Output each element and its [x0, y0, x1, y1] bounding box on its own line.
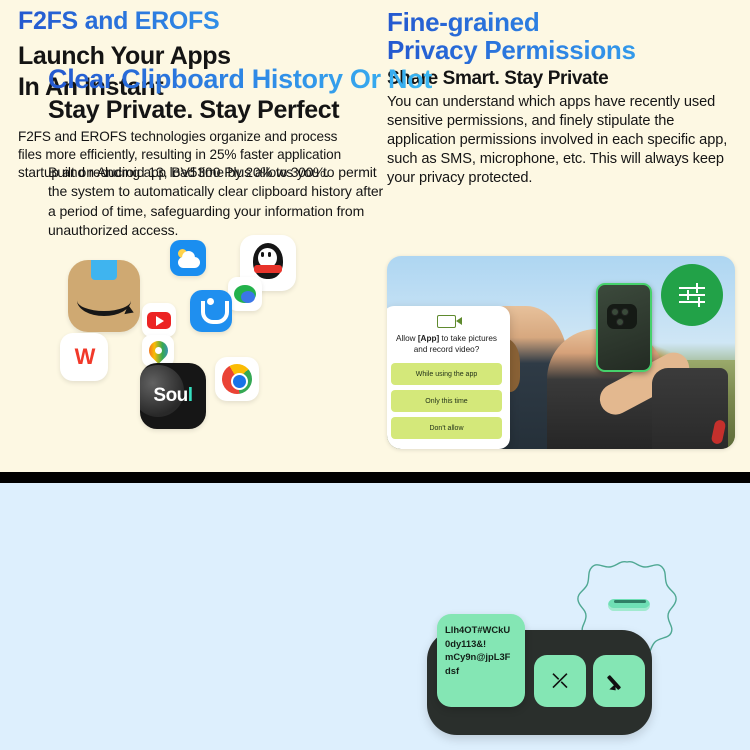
cloud-shape: [178, 257, 200, 268]
privacy-photo-card: Allow [App] to take pictures and record …: [387, 256, 735, 449]
wechat-blue-bubble: [241, 291, 255, 303]
wechat-app-icon[interactable]: [228, 277, 262, 311]
youtube-play-triangle: [156, 316, 164, 326]
camera-lens-3: [616, 318, 624, 326]
camera-glyph: [437, 315, 456, 328]
penguin-eye-right: [268, 252, 271, 257]
map-pin-center-dot: [155, 347, 162, 354]
permission-question-app: [App]: [418, 334, 439, 343]
rugged-phone: [596, 283, 652, 372]
amazon-app-icon[interactable]: [68, 260, 140, 332]
slider-knob-2: [687, 290, 689, 300]
right-headline: Share Smart. Stay Private: [387, 64, 736, 91]
clipboard-note[interactable]: Llh4OT#WCkU 0dy113&! mCy9n@jpL3F dsf: [437, 614, 525, 707]
camera-icon: [391, 315, 502, 328]
soul-app-icon[interactable]: Soul: [140, 363, 206, 429]
camera-lens-2: [621, 308, 629, 316]
permission-button-only-this-time[interactable]: Only this time: [391, 390, 502, 412]
app-icon-cloud: W Soul: [0, 235, 375, 450]
soul-wordmark: Soul: [153, 385, 192, 407]
shuffle-button[interactable]: ⤫: [534, 655, 586, 707]
sliders-glyph: [679, 284, 705, 306]
camera-lens-1: [611, 308, 619, 316]
wps-logo-letter: W: [75, 344, 94, 370]
clipboard-tray: Llh4OT#WCkU 0dy113&! mCy9n@jpL3F dsf ⤫: [427, 630, 652, 735]
pencil-icon: [609, 671, 629, 691]
bottom-body-copy: Built on Android 13, BV5300 Plus allows …: [48, 163, 388, 240]
amazon-smile-shape: [77, 285, 131, 316]
permission-button-while-using[interactable]: While using the app: [391, 363, 502, 385]
amazon-tab-shape: [91, 260, 117, 280]
permission-dialog: Allow [App] to take pictures and record …: [387, 306, 510, 449]
section-divider: [0, 472, 750, 483]
permission-question-prefix: Allow: [396, 334, 418, 343]
weather-app-icon[interactable]: [170, 240, 206, 276]
blue-app-icon[interactable]: [190, 290, 232, 332]
bottom-eyebrow-heading: Clear Clipboard History Or Not: [48, 65, 432, 94]
left-eyebrow-heading: F2FS and EROFS: [18, 8, 357, 35]
slider-track-1: [679, 287, 705, 289]
bottom-headline: Stay Private. Stay Perfect: [48, 96, 339, 125]
amazon-arrow-shape: [124, 305, 135, 317]
slider-knob-3: [698, 297, 700, 307]
blue-app-u-shape: [201, 301, 229, 324]
right-body-copy: You can understand which apps have recen…: [387, 91, 736, 188]
shuffle-icon: ⤫: [552, 672, 567, 691]
chrome-app-icon[interactable]: [215, 357, 259, 401]
backpack: [652, 368, 729, 449]
penguin-eye-left: [261, 252, 264, 257]
soul-wordmark-main: Sou: [153, 385, 187, 406]
chrome-center-dot: [231, 373, 248, 390]
right-eyebrow-line2: Privacy Permissions: [387, 35, 636, 65]
infographic-page: F2FS and EROFS Launch Your Apps In An In…: [0, 0, 750, 750]
wps-office-app-icon[interactable]: W: [60, 333, 108, 381]
slider-track-2: [679, 294, 705, 296]
sliders-settings-icon[interactable]: [661, 264, 723, 326]
permission-button-dont-allow[interactable]: Don't allow: [391, 417, 502, 439]
slider-track-3: [679, 301, 705, 303]
backpack-strap: [710, 419, 726, 445]
youtube-app-icon[interactable]: [142, 303, 176, 337]
slider-knob-1: [696, 283, 698, 293]
right-eyebrow-heading: Fine-grained Privacy Permissions: [387, 4, 736, 64]
soul-wordmark-accent: l: [188, 385, 193, 406]
right-eyebrow-line1: Fine-grained: [387, 7, 539, 37]
penguin-scarf-shape: [254, 265, 282, 273]
permission-question: Allow [App] to take pictures and record …: [391, 333, 502, 355]
edit-pencil-button[interactable]: [593, 655, 645, 707]
mint-pill-shape: [608, 599, 650, 611]
phone-camera-module: [607, 304, 637, 329]
